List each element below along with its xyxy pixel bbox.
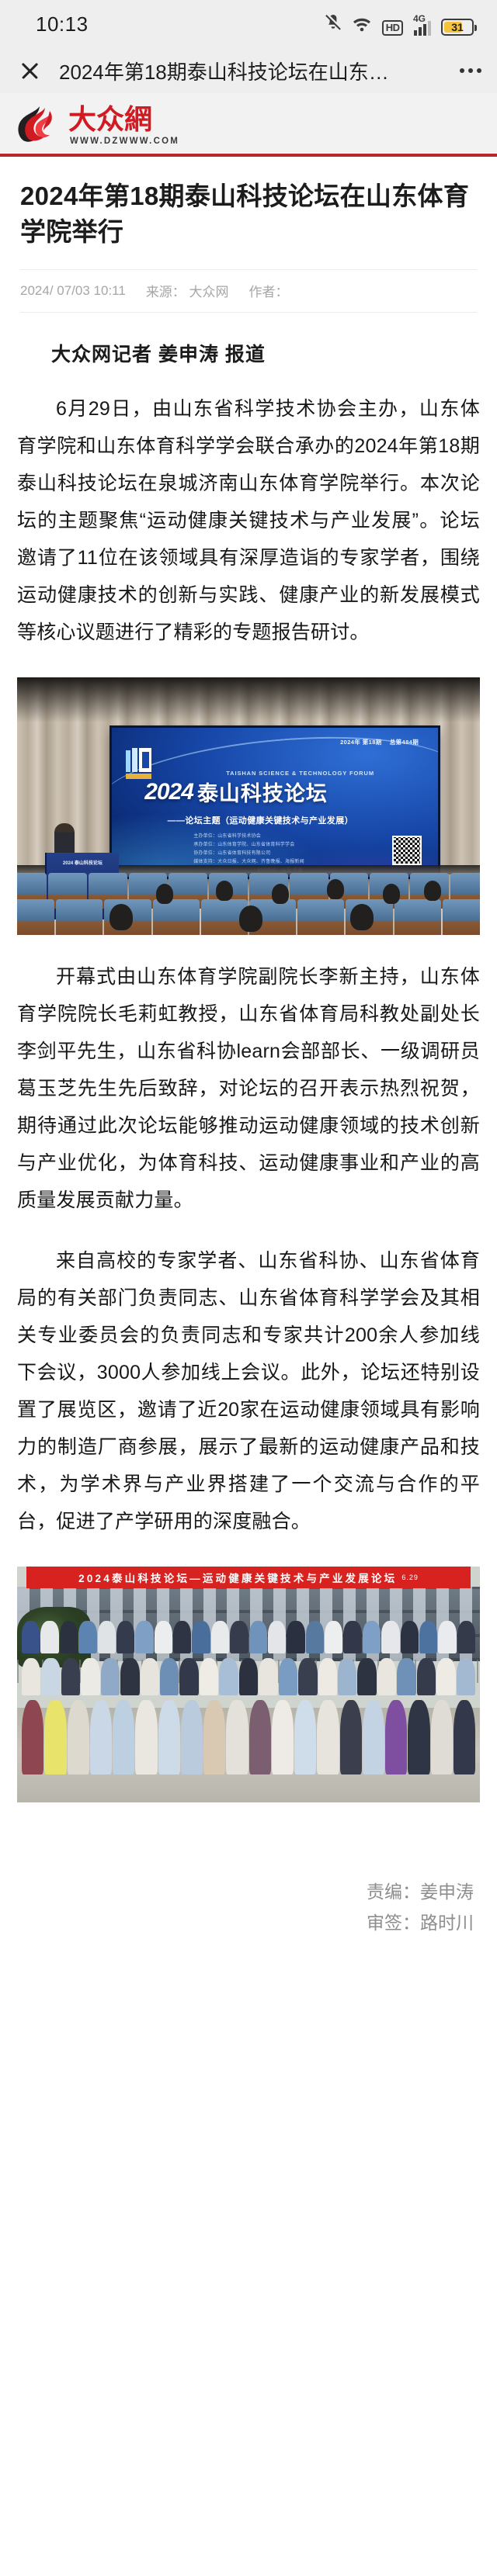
approver-line: 审签：路时川 [17,1908,474,1939]
person [155,1621,172,1653]
person [203,1700,225,1774]
podium-label: 2024 泰山科技论坛 [52,859,113,866]
screen-english-title: TAISHAN SCIENCE & TECHNOLOGY FORUM [226,770,374,777]
more-dot [460,68,464,73]
person [431,1700,453,1774]
crowd-row-middle [22,1658,475,1695]
person [200,1658,218,1695]
browser-navbar: 2024年第18期泰山科技论坛在山东… [0,48,497,93]
person [457,1658,475,1695]
flame-logo-icon [16,105,62,145]
site-header: 大众網 WWW.DZWWW.COM [0,93,497,157]
audience-head [350,904,374,930]
4g-signal-icon: 4G [413,19,431,36]
battery-icon: 31 [441,19,474,36]
person [306,1621,324,1653]
person [408,1700,429,1774]
ceiling-shadow [17,677,480,722]
more-options-icon[interactable] [449,68,481,73]
person [419,1621,437,1653]
person [81,1658,99,1695]
person [381,1621,399,1653]
status-clock: 10:13 [36,12,89,36]
crowd-row-back [22,1621,475,1653]
audience-seating [17,873,480,935]
forum-hall-photo: 2024年 第18期 总第484期 TAISHAN SCIENCE & TECH… [17,677,480,935]
close-icon[interactable] [17,57,43,84]
person [325,1621,342,1653]
person [22,1700,43,1774]
person [113,1700,134,1774]
signal-bars [414,19,431,36]
person [298,1658,317,1695]
person [401,1621,419,1653]
presentation-screen: 2024年 第18期 总第484期 TAISHAN SCIENCE & TECH… [112,728,438,878]
signal-bar [414,30,417,36]
source-value[interactable]: 大众网 [189,285,229,299]
person [272,1700,294,1774]
organizer-line: 承办单位：山东体育学院、山东省体育科学学会 [193,841,367,850]
article-byline: 大众网记者 姜申涛 报道 [17,313,480,367]
person [385,1700,407,1774]
status-bar: 10:13 HD 4G [0,0,497,48]
person [363,1700,384,1774]
audience-head [239,905,262,932]
person [338,1658,356,1695]
article-signoff: 责编：姜申涛 审签：路时川 [17,1802,480,1966]
person [279,1658,297,1695]
person [317,1700,339,1774]
article-headline: 2024年第18期泰山科技论坛在山东体育学院举行 [17,157,480,249]
source-group: 来源： 大众网 [146,281,229,300]
person [294,1700,316,1774]
person [343,1621,361,1653]
person [457,1621,475,1653]
person [141,1658,159,1695]
audience-head [109,904,133,930]
person [135,1621,153,1653]
person [60,1621,78,1653]
organizer-line: 协办单位：山东省体育科技有限公司 [193,850,367,858]
screen-year: 2024 [144,779,193,805]
person [239,1658,258,1695]
audience-head [156,884,173,904]
person [249,1621,267,1653]
site-url-label: WWW.DZWWW.COM [68,137,185,146]
crowd [17,1594,480,1802]
person [230,1621,248,1653]
source-label: 来源： [146,285,186,299]
crowd-row-front-seated [22,1700,475,1774]
person [41,1658,60,1695]
person [44,1700,66,1774]
screen-theme: ——论坛主题（运动健康关键技术与产业发展） [168,814,422,826]
person [90,1700,112,1774]
group-photo: 2024泰山科技论坛—运动健康关键技术与产业发展论坛 6.29 [17,1567,480,1802]
seat [297,899,344,935]
person [22,1658,40,1695]
signal-bar [423,24,426,36]
audience-head [424,881,441,901]
person [436,1658,455,1695]
site-logo[interactable]: 大众網 WWW.DZWWW.COM [16,104,185,146]
person [340,1700,362,1774]
more-dot [468,68,473,73]
person [78,1621,96,1653]
seat [56,899,103,935]
screen-issue-line: 2024年 第18期 总第484期 [340,738,419,746]
qr-code-icon [392,836,422,865]
site-name-wordmark: 大众網 [68,104,185,135]
article-container: 2024年第18期泰山科技论坛在山东体育学院举行 2024/ 07/03 10:… [0,157,497,1966]
person [417,1658,436,1695]
banner-date: 6.29 [401,1574,419,1581]
person [181,1700,203,1774]
site-name-block: 大众網 WWW.DZWWW.COM [68,104,185,146]
person [120,1658,139,1695]
editor-line: 责编：姜申涛 [17,1877,474,1908]
screen-forum-name: 泰山科技论坛 [197,777,328,807]
author-label: 作者： [249,281,289,300]
person [211,1621,229,1653]
person [438,1621,456,1653]
audience-head [216,881,233,901]
screen-issue-year: 2024年 第18期 [340,738,382,746]
person [268,1621,286,1653]
person [22,1621,40,1653]
notification-off-icon [325,13,342,36]
seat [153,899,200,935]
article-paragraph-3: 来自高校的专家学者、山东省科协、山东省体育局的有关部门负责同志、山东省体育科学学… [17,1242,480,1540]
person [160,1658,179,1695]
person [357,1658,376,1695]
person [173,1621,191,1653]
person [397,1658,415,1695]
person [249,1700,271,1774]
person [68,1700,89,1774]
screen-issue-total: 总第484期 [390,738,419,746]
person [259,1658,277,1695]
forum-emblem-icon [123,746,155,781]
seat [443,899,480,935]
group-photo-banner: 2024泰山科技论坛—运动健康关键技术与产业发展论坛 6.29 [26,1567,471,1588]
article-meta: 2024/ 07/03 10:11 来源： 大众网 作者： [20,269,477,313]
person [318,1658,337,1695]
article-paragraph-2: 开幕式由山东体育学院副院长李新主持，山东体育学院院长毛莉虹教授，山东省体育局科教… [17,958,480,1219]
person [61,1658,80,1695]
publish-date: 2024/ 07/03 10:11 [20,283,126,299]
person [192,1621,210,1653]
page-title: 2024年第18期泰山科技论坛在山东… [43,57,449,85]
signal-bar [428,21,431,36]
wifi-icon [352,15,372,36]
person [158,1700,180,1774]
figure-group-photo: 2024泰山科技论坛—运动健康关键技术与产业发展论坛 6.29 [17,1567,480,1802]
person [287,1621,304,1653]
person [219,1658,238,1695]
organizer-line: 主办单位：山东省科学技术协会 [193,833,367,841]
person [377,1658,396,1695]
person [363,1621,381,1653]
seat [394,899,441,935]
person [226,1700,248,1774]
seat [17,899,54,935]
svg-text:大众網: 大众網 [68,104,152,135]
person [135,1700,157,1774]
banner-text: 2024泰山科技论坛—运动健康关键技术与产业发展论坛 [78,1570,397,1585]
person [101,1658,120,1695]
audience-head [327,879,344,899]
hd-icon: HD [382,20,403,36]
audience-head [272,884,289,904]
audience-head [383,884,400,904]
more-dot [477,68,481,73]
battery-percent-label: 31 [451,21,464,33]
screen-main-title: 2024 泰山科技论坛 [144,777,419,807]
person [98,1621,116,1653]
person [116,1621,134,1653]
person [40,1621,58,1653]
person [454,1700,475,1774]
figure-forum-hall: 2024年 第18期 总第484期 TAISHAN SCIENCE & TECH… [17,677,480,935]
person [179,1658,198,1695]
status-icon-group: HD 4G 31 [325,13,474,36]
signal-bar [419,27,422,36]
article-paragraph-1: 6月29日，由山东省科学技术协会主办，山东体育学院和山东体育科学学会联合承办的2… [17,390,480,651]
